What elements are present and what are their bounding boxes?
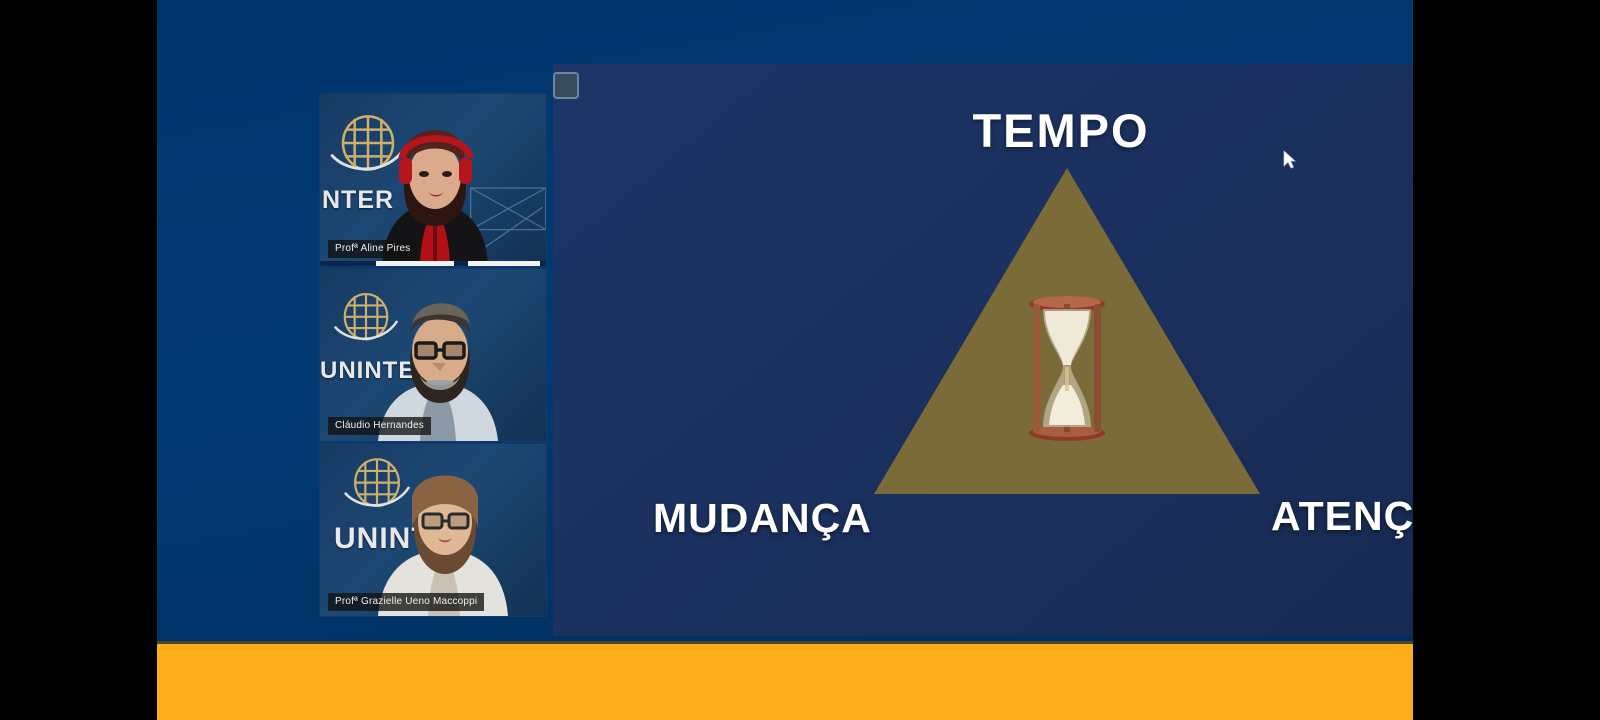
participant-video-figure: [320, 268, 547, 441]
participant-tile[interactable]: UNINT Profª Gra: [319, 443, 547, 617]
letterbox-right: [1413, 0, 1600, 720]
mouse-cursor: [1283, 150, 1297, 170]
letterbox-left: [0, 0, 157, 720]
meeting-window: NTER: [157, 0, 1413, 720]
participant-tile[interactable]: UNINTER: [319, 268, 547, 442]
brand-bar: [157, 641, 1413, 720]
tile-indicator-bar[interactable]: [320, 261, 547, 266]
participant-name-badge: Profª Grazielle Ueno Maccoppi: [328, 593, 484, 611]
participant-name-badge: Cláudio Hernandes: [328, 417, 431, 435]
slide-label-mudanca: MUDANÇA: [653, 495, 872, 542]
participant-video-figure: [320, 443, 547, 616]
participant-tile[interactable]: NTER: [319, 93, 547, 267]
screen: NTER: [0, 0, 1600, 720]
slide-label-atencao: ATENÇÃO: [1271, 493, 1413, 540]
hourglass-icon: [1027, 295, 1107, 441]
participant-name-badge: Profª Aline Pires: [328, 240, 417, 258]
slide-corner-chip: [553, 72, 579, 99]
